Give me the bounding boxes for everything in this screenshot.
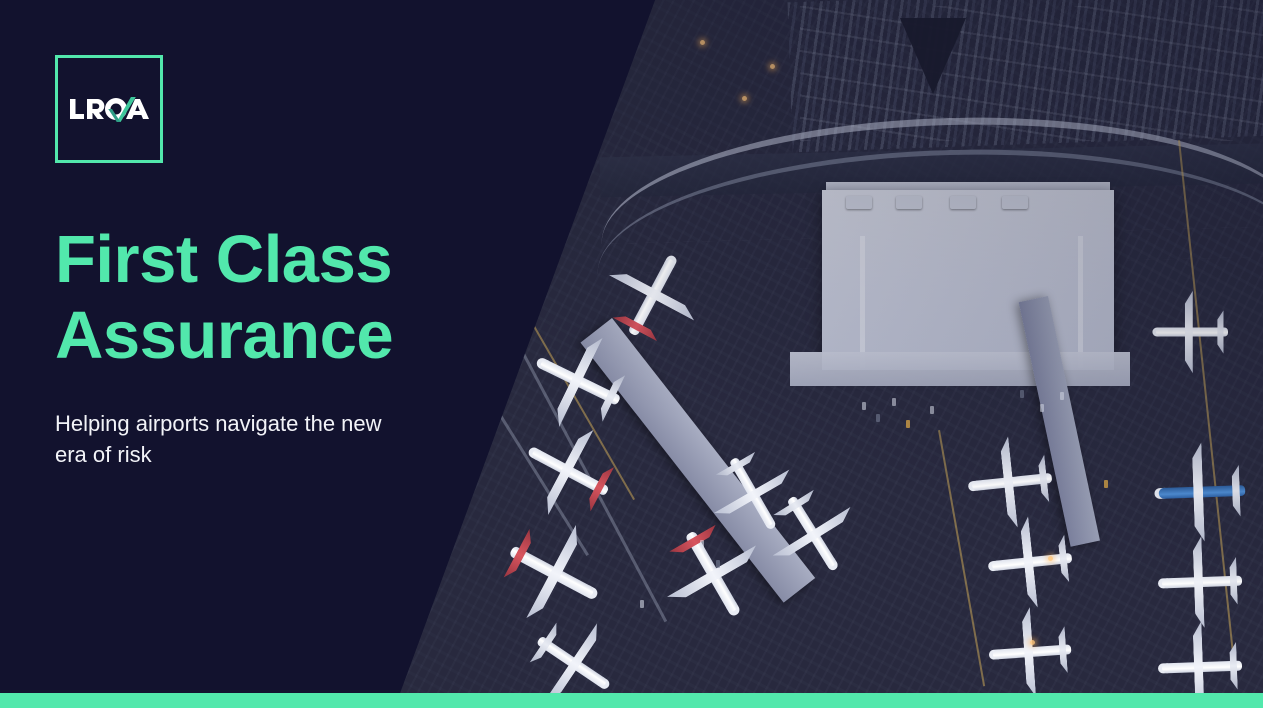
aircraft — [978, 598, 1087, 693]
page-subtitle: Helping airports navigate the new era of… — [55, 408, 395, 470]
terminal-light — [1030, 640, 1035, 645]
roof-skylight — [920, 248, 931, 366]
roof-vent — [1002, 196, 1028, 209]
service-vehicle — [930, 406, 934, 414]
bottom-accent-bar — [0, 693, 1263, 708]
roof-rib — [1078, 236, 1083, 368]
service-vehicle — [700, 540, 704, 548]
roof-skylight — [968, 248, 979, 366]
roof-vent — [950, 196, 976, 209]
service-vehicle — [876, 414, 880, 422]
roof-skylight — [872, 248, 883, 366]
terminal-light — [1048, 556, 1053, 561]
title-slide: First Class Assurance Helping airports n… — [0, 0, 1263, 708]
service-vehicle — [862, 402, 866, 410]
lrqa-wordmark — [58, 96, 160, 122]
service-vehicle — [1020, 390, 1024, 398]
service-vehicle — [640, 600, 644, 608]
service-vehicle — [716, 560, 720, 568]
aircraft — [1145, 285, 1239, 379]
terminal-light — [700, 40, 705, 45]
roof-rib — [860, 236, 865, 368]
service-vehicle — [1104, 480, 1108, 488]
service-vehicle — [1040, 404, 1044, 412]
terminal-apron-walkway — [790, 352, 1130, 386]
terminal-light — [770, 64, 775, 69]
headline-line-1: First Class — [55, 222, 392, 297]
headline-line-2: Assurance — [55, 298, 475, 374]
lrqa-logo[interactable] — [55, 55, 163, 163]
aircraft — [1148, 613, 1256, 693]
terminal-light — [742, 96, 747, 101]
service-vehicle — [892, 398, 896, 406]
roof-vent — [846, 196, 872, 209]
lrqa-wordmark-icon — [69, 96, 149, 122]
page-title: First Class Assurance — [55, 222, 475, 374]
service-vehicle — [1060, 392, 1064, 400]
roof-vent — [896, 196, 922, 209]
service-vehicle — [906, 420, 910, 428]
